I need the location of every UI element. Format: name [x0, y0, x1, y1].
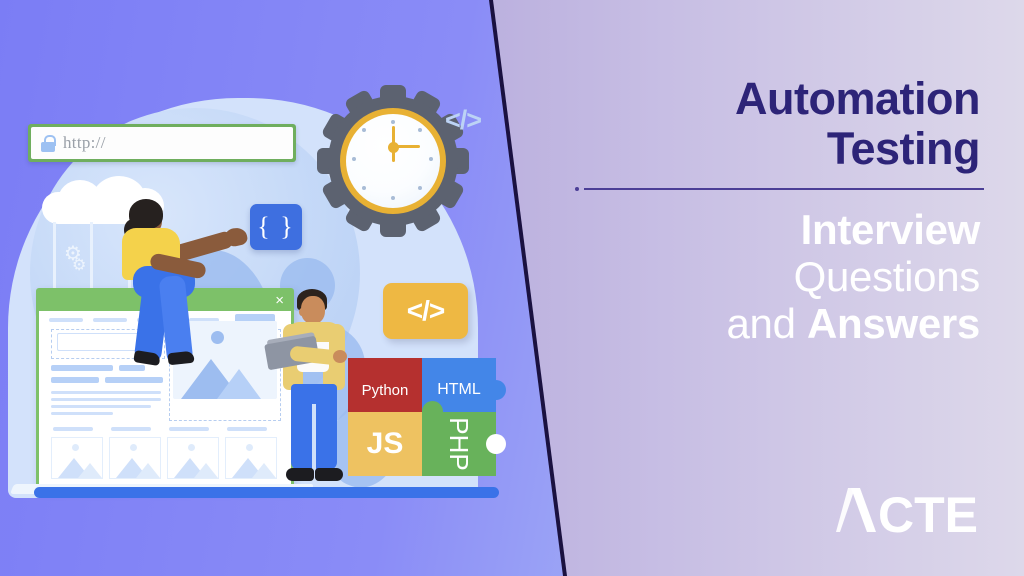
thumbnail-card — [109, 437, 161, 479]
heading-placeholder — [51, 365, 113, 371]
banner-canvas: ⚙ ⚙ — [0, 0, 1024, 576]
subtitle-line-1: Interview — [540, 206, 980, 253]
heading-placeholder — [119, 365, 145, 371]
title-line-2: Testing — [827, 123, 980, 174]
heading-placeholder — [51, 377, 99, 383]
ground-bar — [34, 487, 499, 498]
rain-line — [53, 222, 56, 288]
gear-small-icon: ⚙ — [72, 258, 86, 274]
url-input[interactable]: http:// — [63, 133, 106, 153]
close-icon[interactable]: × — [275, 293, 284, 309]
illustration-area: ⚙ ⚙ — [0, 0, 520, 576]
curly-braces-badge: { } — [250, 204, 302, 250]
acte-logo-text: CTE — [878, 490, 978, 540]
subtitle-block: Interview Questions and Answers — [540, 206, 980, 347]
card-label-placeholder — [53, 427, 93, 431]
page-title: Automation Testing — [540, 74, 980, 173]
url-bar[interactable]: http:// — [28, 124, 296, 162]
rain-line — [90, 222, 93, 288]
card-label-placeholder — [111, 427, 151, 431]
subtitle-line-3-plain: and — [726, 300, 807, 347]
heading-placeholder — [105, 377, 163, 383]
text-line-placeholder — [51, 412, 113, 415]
text-line-placeholder — [51, 391, 161, 394]
nav-placeholder — [93, 318, 127, 322]
acte-a-mark-icon — [836, 488, 876, 532]
url-bar-inner[interactable]: http:// — [31, 127, 293, 159]
clock-pivot — [388, 142, 399, 153]
text-line-placeholder — [51, 405, 151, 408]
nav-placeholder — [49, 318, 83, 322]
code-tag-symbol: </> — [445, 105, 481, 136]
text-line-placeholder — [51, 398, 161, 401]
thumbnail-card — [225, 437, 277, 479]
acte-logo: CTE — [836, 488, 978, 540]
puzzle-piece-js: JS — [348, 412, 422, 476]
thumbnail-card — [51, 437, 103, 479]
subtitle-line-3: and Answers — [540, 300, 980, 347]
lock-icon — [41, 135, 55, 152]
card-label-placeholder — [169, 427, 209, 431]
subtitle-line-3-bold: Answers — [807, 300, 980, 347]
thumbnail-card — [167, 437, 219, 479]
subtitle-line-2: Questions — [540, 253, 980, 300]
code-tag-badge: </> — [383, 283, 468, 339]
title-line-1: Automation — [735, 73, 980, 124]
title-divider — [584, 188, 984, 190]
card-label-placeholder — [227, 427, 267, 431]
